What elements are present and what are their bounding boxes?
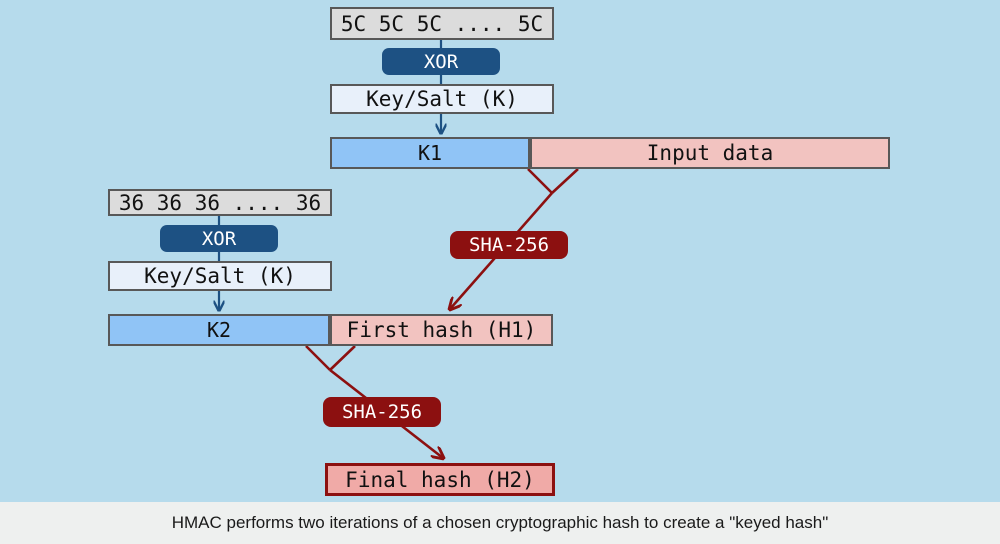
edge-k1-to-junction-1	[528, 169, 552, 193]
k1-box: K1	[330, 137, 530, 169]
caption-text: HMAC performs two iterations of a chosen…	[172, 513, 829, 533]
outer-xor-operator[interactable]: XOR	[382, 48, 500, 75]
inner-key-salt-box: Key/Salt (K)	[108, 261, 332, 291]
outer-pad-box: 5C 5C 5C .... 5C	[330, 7, 554, 40]
sha-256-round-2-label: SHA-256	[323, 397, 441, 427]
edge-firsthash-to-junction-2	[330, 346, 355, 370]
diagram-caption: HMAC performs two iterations of a chosen…	[0, 502, 1000, 544]
input-data-box: Input data	[530, 137, 890, 169]
outer-key-salt-box: Key/Salt (K)	[330, 84, 554, 114]
k2-box: K2	[108, 314, 330, 346]
inner-pad-box: 36 36 36 .... 36	[108, 189, 332, 216]
edge-inputdata-to-junction-1	[552, 169, 578, 193]
final-hash-box: Final hash (H2)	[325, 463, 555, 496]
first-hash-box: First hash (H1)	[330, 314, 553, 346]
edge-k2-to-junction-2	[306, 346, 330, 370]
diagram-canvas: 5C 5C 5C .... 5C XOR Key/Salt (K) K1 Inp…	[0, 0, 1000, 502]
sha-256-round-1-label: SHA-256	[450, 231, 568, 259]
inner-xor-operator[interactable]: XOR	[160, 225, 278, 252]
hmac-diagram-page: 5C 5C 5C .... 5C XOR Key/Salt (K) K1 Inp…	[0, 0, 1000, 544]
